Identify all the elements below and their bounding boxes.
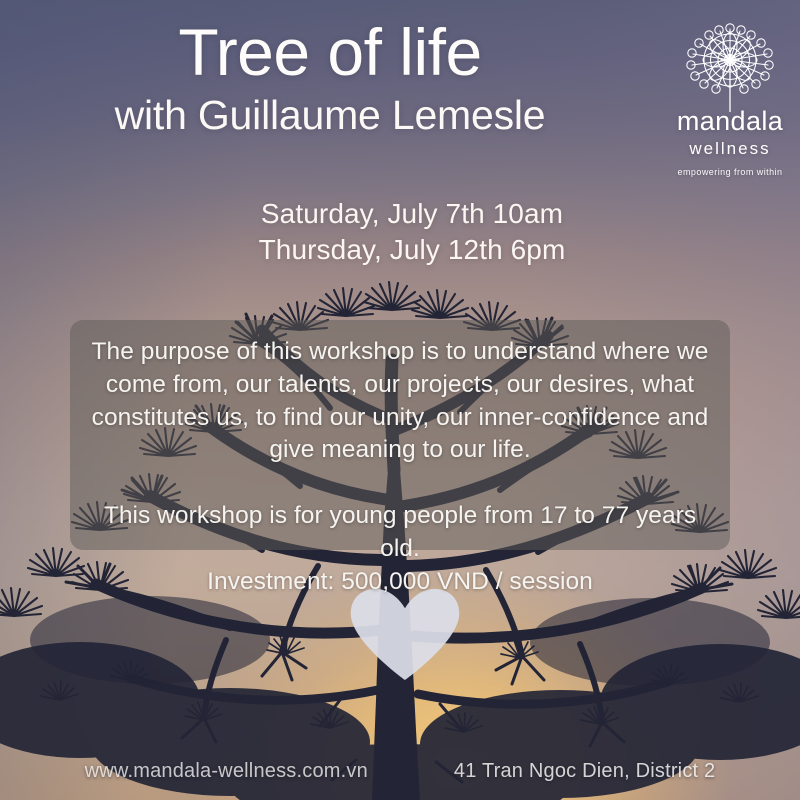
logo-name: mandala	[667, 108, 793, 135]
headline-block: Tree of life with Guillaume Lemesle	[0, 18, 660, 139]
footer-address: 41 Tran Ngoc Dien, District 2	[454, 760, 715, 783]
session-dates: Saturday, July 7th 10am Thursday, July 1…	[0, 196, 800, 268]
session-date-2: Thursday, July 12th 6pm	[0, 232, 800, 268]
description-panel: The purpose of this workshop is to under…	[70, 320, 730, 550]
poster-canvas: Tree of life with Guillaume Lemesle Satu…	[0, 0, 800, 800]
description-panel-content: The purpose of this workshop is to under…	[70, 336, 730, 599]
workshop-purpose-paragraph: The purpose of this workshop is to under…	[84, 336, 716, 467]
logo-tagline: empowering from within	[667, 168, 793, 177]
page-title: Tree of life	[0, 18, 660, 87]
workshop-audience-line: This workshop is for young people from 1…	[84, 500, 716, 566]
footer-website[interactable]: www.mandala-wellness.com.vn	[85, 760, 368, 783]
mandala-wellness-logo: mandala wellness empowering from within	[667, 20, 793, 177]
workshop-price-line: Investment: 500,000 VND / session	[84, 566, 716, 599]
dandelion-mandala-icon	[667, 20, 793, 112]
page-subtitle: with Guillaume Lemesle	[0, 93, 660, 139]
footer-bar: www.mandala-wellness.com.vn 41 Tran Ngoc…	[0, 758, 800, 784]
session-date-1: Saturday, July 7th 10am	[0, 196, 800, 232]
logo-subname: wellness	[667, 140, 793, 157]
